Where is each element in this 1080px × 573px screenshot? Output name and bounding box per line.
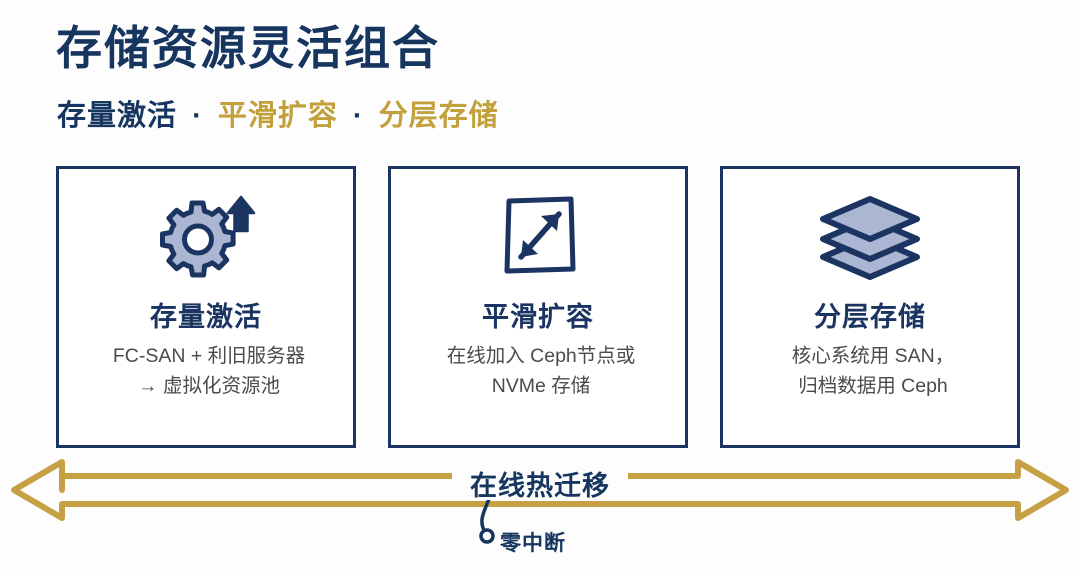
layered-stack-icon [723,189,1017,285]
card-body: 核心系统用 SAN， 归档数据用 Ceph [735,341,1011,401]
subtitle-part-2: 平滑扩容 [218,100,338,132]
page-subtitle: 存量激活 · 平滑扩容 · 分层存储 [57,99,499,134]
feature-card-storage-activation[interactable]: 存量激活 FC-SAN + 利旧服务器 → 虚拟化资源池 [56,166,356,448]
subtitle-separator-2: · [347,100,370,132]
subtitle-part-3: 分层存储 [379,100,499,132]
card-title: 存量激活 [59,295,353,334]
callout-label: 零中断 [500,527,566,557]
infographic-root: 存储资源灵活组合 存量激活 · 平滑扩容 · 分层存储 存量激活 FC-SAN … [0,0,1080,573]
card-body: 在线加入 Ceph节点或 NVMe 存储 [403,341,679,401]
expand-diagonal-arrow-icon [391,189,685,285]
feature-card-smooth-expansion[interactable]: 平滑扩容 在线加入 Ceph节点或 NVMe 存储 [388,166,688,448]
subtitle-separator-1: · [186,100,209,132]
subtitle-part-1: 存量激活 [57,100,177,132]
page-title: 存储资源灵活组合 [56,22,440,75]
card-title: 平滑扩容 [391,295,685,334]
card-body: FC-SAN + 利旧服务器 → 虚拟化资源池 [71,341,347,401]
gear-up-arrow-icon [59,189,353,285]
card-title: 分层存储 [723,295,1017,334]
arrow-label: 在线热迁移 [0,464,1080,503]
hot-migration-arrow-block: 在线热迁移 零中断 [0,452,1080,573]
feature-card-tiered-storage[interactable]: 分层存储 核心系统用 SAN， 归档数据用 Ceph [720,166,1020,448]
